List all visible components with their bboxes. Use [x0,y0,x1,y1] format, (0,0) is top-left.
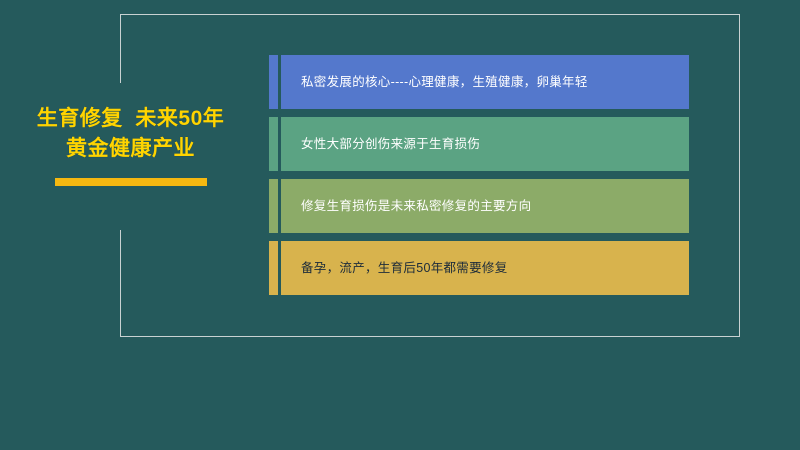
list-item[interactable]: 修复生育损伤是未来私密修复的主要方向 [269,179,689,233]
frame-left-lower-rule [120,230,121,337]
banner-accent-bar-1 [269,55,278,109]
banner-accent-bar-2 [269,117,278,171]
banner-body-1[interactable]: 私密发展的核心----心理健康，生殖健康，卵巢年轻 [281,55,689,109]
frame-bottom-rule [120,336,740,337]
banner-accent-bar-3 [269,179,278,233]
slide-canvas: 生育修复 未来50年黄金健康产业 私密发展的核心----心理健康，生殖健康，卵巢… [0,0,800,450]
list-item[interactable]: 女性大部分创伤来源于生育损伤 [269,117,689,171]
list-item[interactable]: 私密发展的核心----心理健康，生殖健康，卵巢年轻 [269,55,689,109]
banner-body-3[interactable]: 修复生育损伤是未来私密修复的主要方向 [281,179,689,233]
slide-title: 生育修复 未来50年黄金健康产业 [28,104,233,164]
banner-body-2[interactable]: 女性大部分创伤来源于生育损伤 [281,117,689,171]
banner-label-3: 修复生育损伤是未来私密修复的主要方向 [281,198,571,214]
arrow-banner-list: 私密发展的核心----心理健康，生殖健康，卵巢年轻 女性大部分创伤来源于生育损伤… [269,55,689,303]
frame-right-rule [739,14,740,337]
frame-top-rule [120,14,740,15]
title-underline-bar [55,178,207,186]
banner-body-4[interactable]: 备孕，流产，生育后50年都需要修复 [281,241,689,295]
banner-accent-bar-4 [269,241,278,295]
banner-label-4: 备孕，流产，生育后50年都需要修复 [281,260,548,276]
frame-left-upper-rule [120,14,121,83]
title-block: 生育修复 未来50年黄金健康产业 [28,104,233,186]
list-item[interactable]: 备孕，流产，生育后50年都需要修复 [269,241,689,295]
banner-label-1: 私密发展的核心----心理健康，生殖健康，卵巢年轻 [281,74,628,90]
banner-label-2: 女性大部分创伤来源于生育损伤 [281,136,520,152]
